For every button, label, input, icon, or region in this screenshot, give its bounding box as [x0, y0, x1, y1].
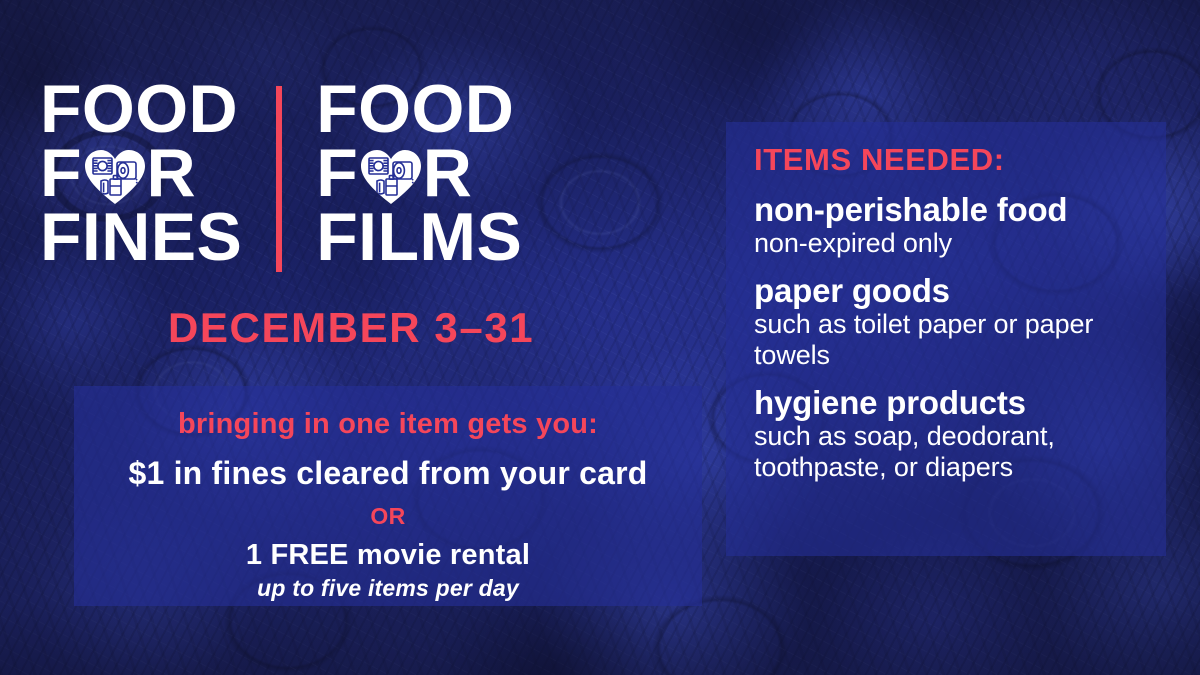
food-for-films-lockup: FOOD F	[316, 78, 522, 270]
promo-primary-offer: $1 in fines cleared from your card	[74, 455, 702, 492]
heart-donation-items-icon	[84, 149, 146, 205]
fines-line-food: FOOD	[40, 78, 242, 142]
heart-donation-items-icon	[360, 149, 422, 205]
films-line-food: FOOD	[316, 78, 522, 142]
title-lockup-group: FOOD F	[40, 78, 522, 272]
title-divider-bar	[276, 86, 282, 272]
items-needed-entry: non-perishable food non-expired only	[754, 192, 1152, 260]
items-needed-heading: ITEMS NEEDED:	[754, 142, 1152, 178]
films-for-letter-f: F	[316, 142, 358, 206]
films-line-films: FILMS	[316, 206, 522, 270]
item-term: hygiene products	[754, 385, 1152, 421]
item-description: non-expired only	[754, 228, 1152, 259]
films-line-for: F	[316, 142, 522, 206]
promo-secondary-offer: 1 FREE movie rental	[74, 539, 702, 572]
fines-for-letter-r: R	[147, 142, 196, 206]
item-term: non-perishable food	[754, 192, 1152, 228]
event-date: DECEMBER 3–31	[168, 304, 534, 352]
promo-connector: OR	[74, 503, 702, 530]
promo-heading: bringing in one item gets you:	[74, 408, 702, 441]
fines-for-letter-f: F	[40, 142, 82, 206]
promo-limit-note: up to five items per day	[74, 575, 702, 602]
fines-line-for: F	[40, 142, 242, 206]
food-for-fines-lockup: FOOD F	[40, 78, 242, 270]
fines-line-fines: FINES	[40, 206, 242, 270]
item-term: paper goods	[754, 273, 1152, 309]
items-needed-panel: ITEMS NEEDED: non-perishable food non-ex…	[726, 122, 1166, 556]
promotional-poster: FOOD F	[0, 0, 1200, 675]
films-for-letter-r: R	[423, 142, 472, 206]
item-description: such as toilet paper or paper towels	[754, 309, 1152, 372]
items-needed-entry: hygiene products such as soap, deodorant…	[754, 385, 1152, 484]
item-description: such as soap, deodorant, toothpaste, or …	[754, 421, 1152, 484]
items-needed-entry: paper goods such as toilet paper or pape…	[754, 273, 1152, 372]
promo-panel: bringing in one item gets you: $1 in fin…	[74, 386, 702, 606]
